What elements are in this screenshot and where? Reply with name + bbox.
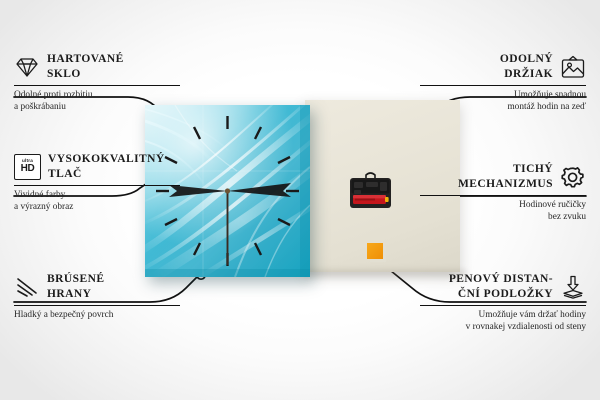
desc-line1: Vividné farby xyxy=(14,190,180,202)
clock-mechanism xyxy=(348,172,393,212)
foam-spacer-pad xyxy=(367,243,383,259)
divider xyxy=(420,195,586,196)
feature-title-line2: DRŽIAK xyxy=(500,67,553,82)
beveled-edge-icon xyxy=(14,275,40,299)
feature-description: Hladký a bezpečný povrch xyxy=(14,310,180,322)
picture-hanger-icon xyxy=(560,55,586,79)
feature-description: Umožňuje vám držať hodiny v rovnakej vzd… xyxy=(420,310,586,333)
feature-header: HARTOVANÉ SKLO xyxy=(14,52,180,81)
feature-beveled-edges[interactable]: BRÚSENÉ HRANY Hladký a bezpečný povrch xyxy=(14,272,180,322)
feature-durable-hanger[interactable]: ODOLNÝ DRŽIAK Umožňuje snadnou montáž ho… xyxy=(420,52,586,113)
divider xyxy=(14,305,180,306)
product-infographic: HARTOVANÉ SKLO Odolné proti rozbitiu a p… xyxy=(0,0,600,400)
divider xyxy=(420,85,586,86)
feature-title-line1: HARTOVANÉ xyxy=(47,52,124,67)
feature-title-line2: HRANY xyxy=(47,287,104,302)
feature-title: TICHÝ MECHANIZMUS xyxy=(458,162,553,191)
feature-title-line1: ODOLNÝ xyxy=(500,52,553,67)
feature-description: Umožňuje snadnou montáž hodin na zeď xyxy=(420,90,586,113)
feature-title: VYSOKOKVALITNÝ TLAČ xyxy=(48,152,165,181)
desc-line1: Umožňuje snadnou xyxy=(420,90,586,102)
desc-line2: v rovnakej vzdialenosti od steny xyxy=(420,322,586,334)
hd-label: HD xyxy=(21,164,35,174)
desc-line2: a výrazný obraz xyxy=(14,202,180,214)
feature-high-quality-print[interactable]: ultra HD VYSOKOKVALITNÝ TLAČ Vividné far… xyxy=(14,152,180,213)
feature-description: Hodinové ručičky bez zvuku xyxy=(420,200,586,223)
desc-line2: a poškrábaniu xyxy=(14,102,180,114)
desc-line1: Hodinové ručičky xyxy=(420,200,586,212)
feature-title-line2: MECHANIZMUS xyxy=(458,177,553,192)
desc-line1: Hladký a bezpečný povrch xyxy=(14,310,180,322)
feature-title: PENOVÝ DISTAN- ČNÍ PODLOŽKY xyxy=(449,272,553,301)
gear-icon xyxy=(560,165,586,189)
feature-header: TICHÝ MECHANIZMUS xyxy=(420,162,586,191)
feature-hardened-glass[interactable]: HARTOVANÉ SKLO Odolné proti rozbitiu a p… xyxy=(14,52,180,113)
feature-header: ultra HD VYSOKOKVALITNÝ TLAČ xyxy=(14,152,180,181)
desc-line1: Odolné proti rozbitiu xyxy=(14,90,180,102)
feature-description: Odolné proti rozbitiu a poškrábaniu xyxy=(14,90,180,113)
feature-title: BRÚSENÉ HRANY xyxy=(47,272,104,301)
feature-title-line1: PENOVÝ DISTAN- xyxy=(449,272,553,287)
ultra-hd-badge-icon: ultra HD xyxy=(14,154,41,180)
foam-spacer-icon xyxy=(560,275,586,299)
feature-title-line1: TICHÝ xyxy=(458,162,553,177)
feature-title-line2: ČNÍ PODLOŽKY xyxy=(449,287,553,302)
feature-silent-mechanism[interactable]: TICHÝ MECHANIZMUS Hodinové ručičky bez z… xyxy=(420,162,586,223)
feature-foam-spacers[interactable]: PENOVÝ DISTAN- ČNÍ PODLOŽKY Umožňuje vám… xyxy=(420,272,586,333)
desc-line2: montáž hodin na zeď xyxy=(420,102,586,114)
feature-title: ODOLNÝ DRŽIAK xyxy=(500,52,553,81)
diamond-icon xyxy=(14,55,40,79)
desc-line1: Umožňuje vám držať hodiny xyxy=(420,310,586,322)
feature-title: HARTOVANÉ SKLO xyxy=(47,52,124,81)
feature-header: BRÚSENÉ HRANY xyxy=(14,272,180,301)
feature-title-line2: TLAČ xyxy=(48,167,165,182)
feature-title-line1: VYSOKOKVALITNÝ xyxy=(48,152,165,167)
divider xyxy=(14,85,180,86)
divider xyxy=(14,185,180,186)
feature-header: PENOVÝ DISTAN- ČNÍ PODLOŽKY xyxy=(420,272,586,301)
feature-title-line1: BRÚSENÉ xyxy=(47,272,104,287)
divider xyxy=(420,305,586,306)
feature-header: ODOLNÝ DRŽIAK xyxy=(420,52,586,81)
feature-description: Vividné farby a výrazný obraz xyxy=(14,190,180,213)
desc-line2: bez zvuku xyxy=(420,212,586,224)
feature-title-line2: SKLO xyxy=(47,67,124,82)
